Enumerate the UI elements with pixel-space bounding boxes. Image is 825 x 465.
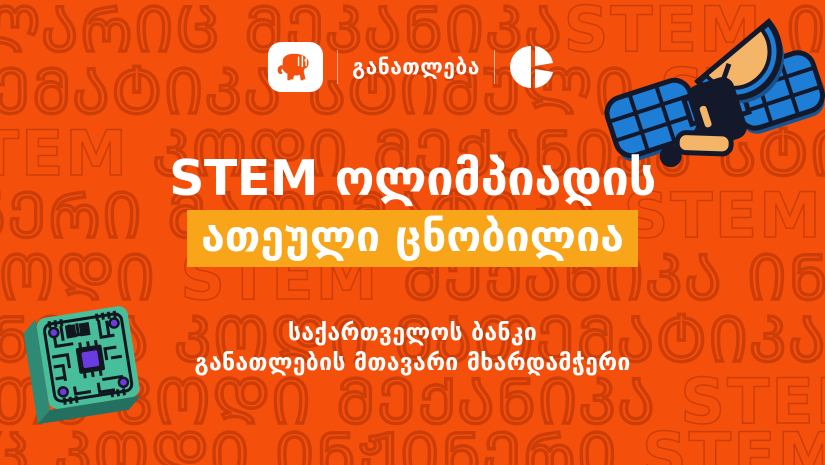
logo-divider-right [494, 50, 496, 84]
sponsor-block: საქართველოს ბანკი განათლების მთავარი მხა… [0, 318, 825, 378]
sponsor-name: საქართველოს ბანკი [0, 318, 825, 348]
page-title: STEM ოლიმპიადის [0, 150, 825, 208]
logo-divider-left [337, 50, 339, 84]
lockup-word: განათლება [352, 55, 480, 79]
sponsor-tagline: განათლების მთავარი მხარდამჭერი [0, 348, 825, 378]
promo-banner: ᲚᲐᲠᲘᲪ ᲛᲔᲙᲐᲜᲘᲙᲐSTEM ᲘᲜᲟᲘᲜᲔᲠᲘ ᲛᲐᲗᲔ ᲛᲐᲗᲔᲛᲐᲢ… [0, 0, 825, 465]
headline-block: STEM ოლიმპიადის ათეული ცნობილია [0, 150, 825, 267]
title-highlight-wrap: ათეული ცნობილია [0, 210, 825, 267]
page-subtitle-highlight: ათეული ცნობილია [187, 210, 638, 267]
logo-lockup: განათლება [0, 38, 825, 96]
bank-of-georgia-lion-logo [268, 42, 323, 92]
k-circle-logo [509, 43, 557, 91]
